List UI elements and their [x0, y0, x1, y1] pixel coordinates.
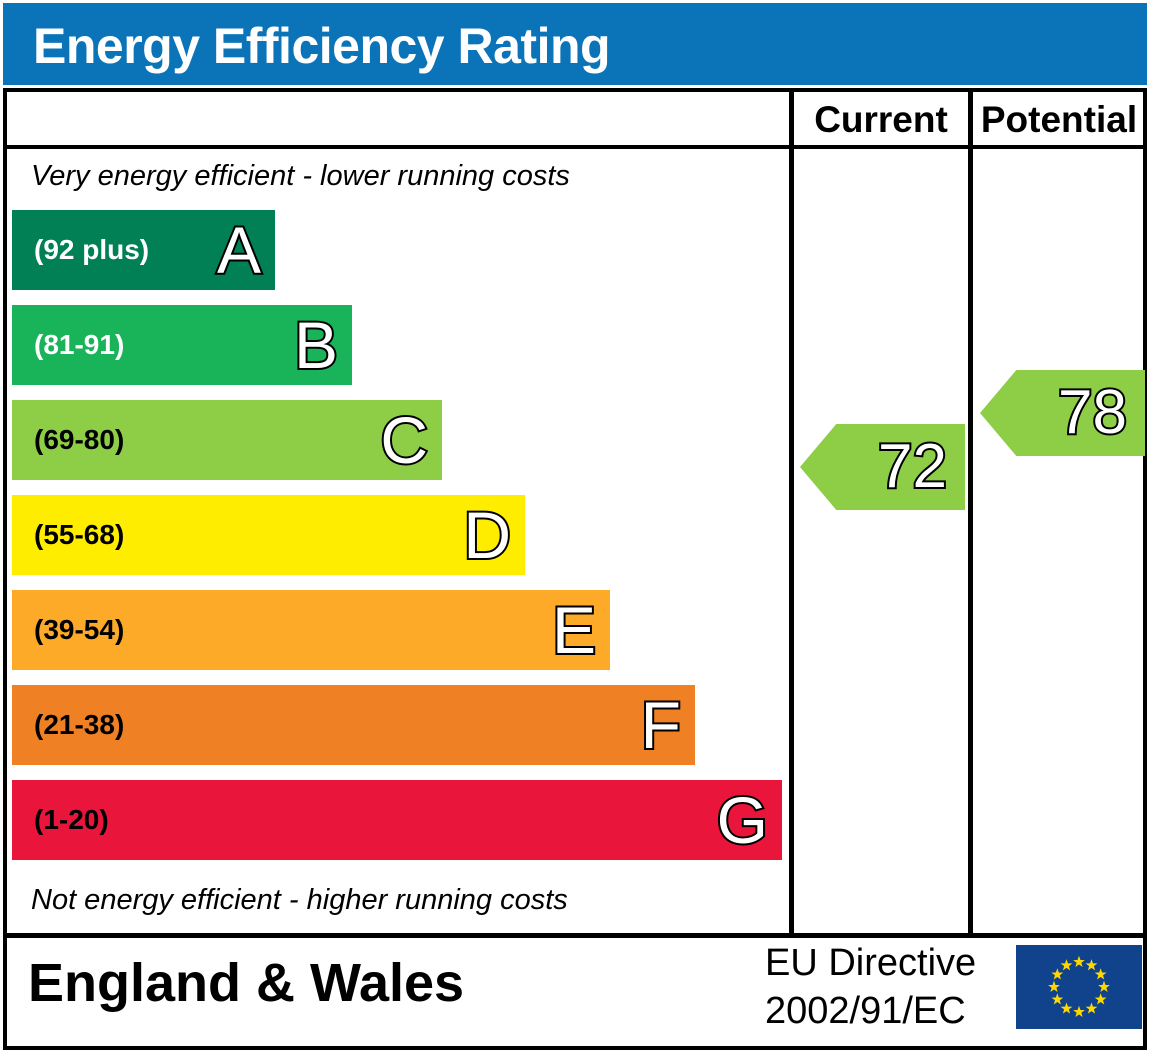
current-column-divider [789, 92, 794, 933]
band-g: (1-20)G [12, 780, 782, 860]
band-e: (39-54)E [12, 590, 610, 670]
band-letter-label: E [552, 597, 596, 663]
current-rating-value: 72 [878, 436, 965, 498]
current-column-header: Current [794, 96, 968, 144]
band-c: (69-80)C [12, 400, 442, 480]
region-label: England & Wales [28, 952, 464, 1014]
potential-rating-value: 78 [1058, 382, 1145, 444]
header-divider [3, 145, 1147, 149]
potential-column-header: Potential [973, 96, 1145, 144]
page-title: Energy Efficiency Rating [33, 17, 610, 75]
band-b: (81-91)B [12, 305, 352, 385]
band-range-label: (92 plus) [34, 236, 149, 264]
caption-very-efficient: Very energy efficient - lower running co… [31, 160, 570, 193]
band-a: (92 plus)A [12, 210, 275, 290]
eu-flag-icon [1016, 945, 1142, 1029]
band-letter-label: G [717, 787, 768, 853]
band-letter-label: D [463, 502, 511, 568]
band-f: (21-38)F [12, 685, 695, 765]
title-bar: Energy Efficiency Rating [3, 3, 1147, 85]
band-letter-label: B [294, 312, 338, 378]
eu-directive-label: EU Directive 2002/91/EC [765, 940, 976, 1035]
band-letter-label: A [217, 217, 261, 283]
footer-divider [3, 933, 1147, 938]
energy-efficiency-rating-chart: Energy Efficiency Rating Current Potenti… [0, 0, 1150, 1053]
eu-directive-line2: 2002/91/EC [765, 988, 976, 1036]
band-range-label: (55-68) [34, 521, 124, 549]
band-range-label: (69-80) [34, 426, 124, 454]
band-letter-label: C [380, 407, 428, 473]
band-range-label: (39-54) [34, 616, 124, 644]
band-range-label: (21-38) [34, 711, 124, 739]
band-range-label: (81-91) [34, 331, 124, 359]
eu-directive-line1: EU Directive [765, 940, 976, 988]
band-d: (55-68)D [12, 495, 525, 575]
caption-not-efficient: Not energy efficient - higher running co… [31, 884, 568, 917]
band-letter-label: F [641, 692, 681, 758]
potential-column-divider [968, 92, 973, 933]
band-range-label: (1-20) [34, 806, 109, 834]
